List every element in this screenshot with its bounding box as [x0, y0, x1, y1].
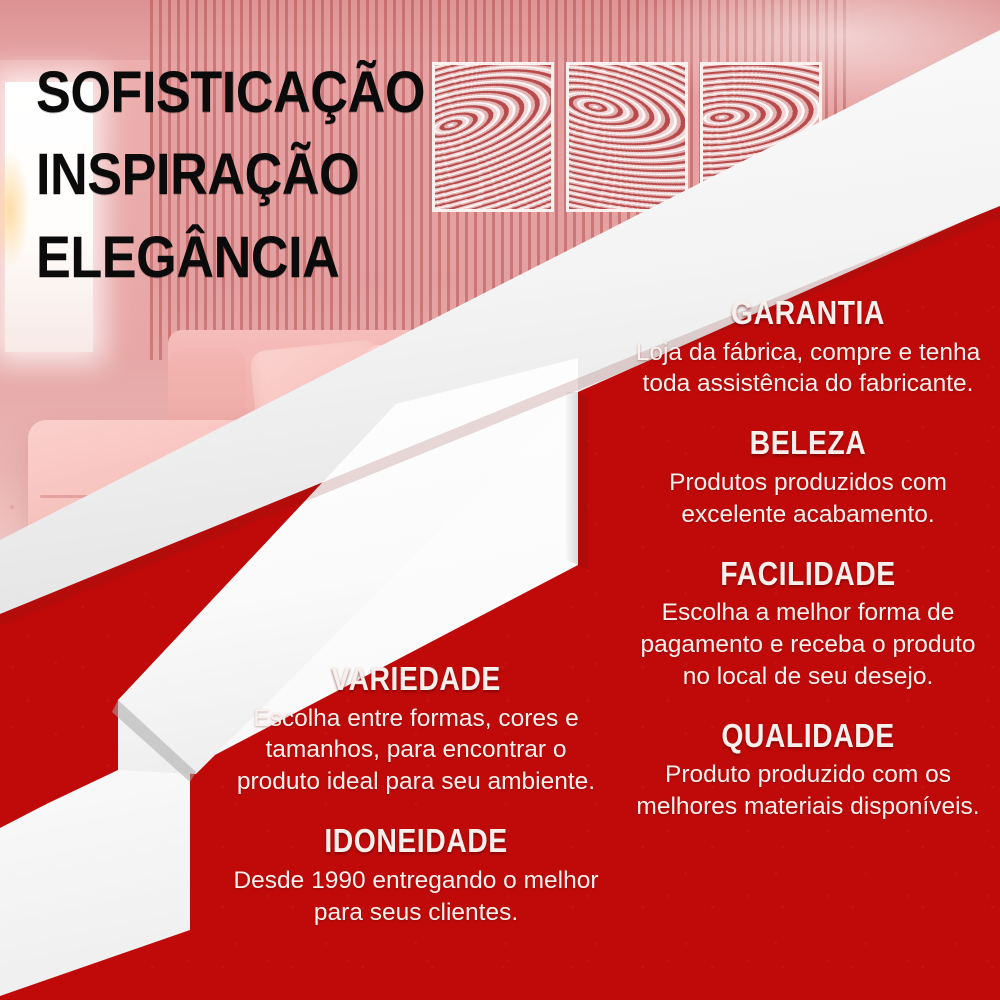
- wall-art-panel-2: [566, 62, 688, 212]
- marble-swirl-pattern: [566, 62, 688, 212]
- benefit-body: Escolha entre formas, cores e tamanhos, …: [232, 703, 600, 799]
- benefit-block-facilidade: FACILIDADE Escolha a melhor forma de pag…: [628, 557, 988, 693]
- benefit-title: GARANTIA: [653, 296, 963, 331]
- benefit-block-variedade: VARIEDADE Escolha entre formas, cores e …: [232, 662, 600, 798]
- page-title: SOFISTICAÇÃO INSPIRAÇÃO ELEGÂNCIA: [36, 52, 423, 299]
- wall-art-panel-1: [432, 62, 554, 212]
- benefits-column-right: GARANTIA Loja da fábrica, compre e tenha…: [628, 296, 988, 823]
- benefit-block-garantia: GARANTIA Loja da fábrica, compre e tenha…: [628, 296, 988, 400]
- promo-poster: SOFISTICAÇÃO INSPIRAÇÃO ELEGÂNCIA GARANT…: [0, 0, 1000, 1000]
- benefit-body: Produtos produzidos com excelente acabam…: [628, 467, 988, 531]
- marble-swirl-pattern: [432, 62, 554, 212]
- benefit-body: Produto produzido com os melhores materi…: [628, 759, 988, 823]
- window-glow: [0, 150, 30, 270]
- benefit-body: Escolha a melhor forma de pagamento e re…: [628, 597, 988, 693]
- headline-line-2: INSPIRAÇÃO: [36, 134, 423, 216]
- benefit-body: Loja da fábrica, compre e tenha toda ass…: [628, 337, 988, 401]
- benefit-block-beleza: BELEZA Produtos produzidos com excelente…: [628, 426, 988, 530]
- benefit-block-idoneidade: IDONEIDADE Desde 1990 entregando o melho…: [232, 824, 600, 928]
- benefit-block-qualidade: QUALIDADE Produto produzido com os melho…: [628, 719, 988, 823]
- headline-line-3: ELEGÂNCIA: [36, 217, 423, 299]
- benefit-title: BELEZA: [653, 426, 963, 461]
- headline-line-1: SOFISTICAÇÃO: [36, 52, 423, 134]
- wall-art-panel-3: [700, 62, 822, 212]
- marble-swirl-pattern: [700, 62, 822, 212]
- benefit-title: VARIEDADE: [258, 662, 574, 697]
- benefits-column-left: VARIEDADE Escolha entre formas, cores e …: [232, 662, 600, 929]
- benefit-title: QUALIDADE: [653, 719, 963, 754]
- benefit-title: IDONEIDADE: [258, 824, 574, 859]
- benefit-title: FACILIDADE: [653, 557, 963, 592]
- benefit-body: Desde 1990 entregando o melhor para seus…: [232, 865, 600, 929]
